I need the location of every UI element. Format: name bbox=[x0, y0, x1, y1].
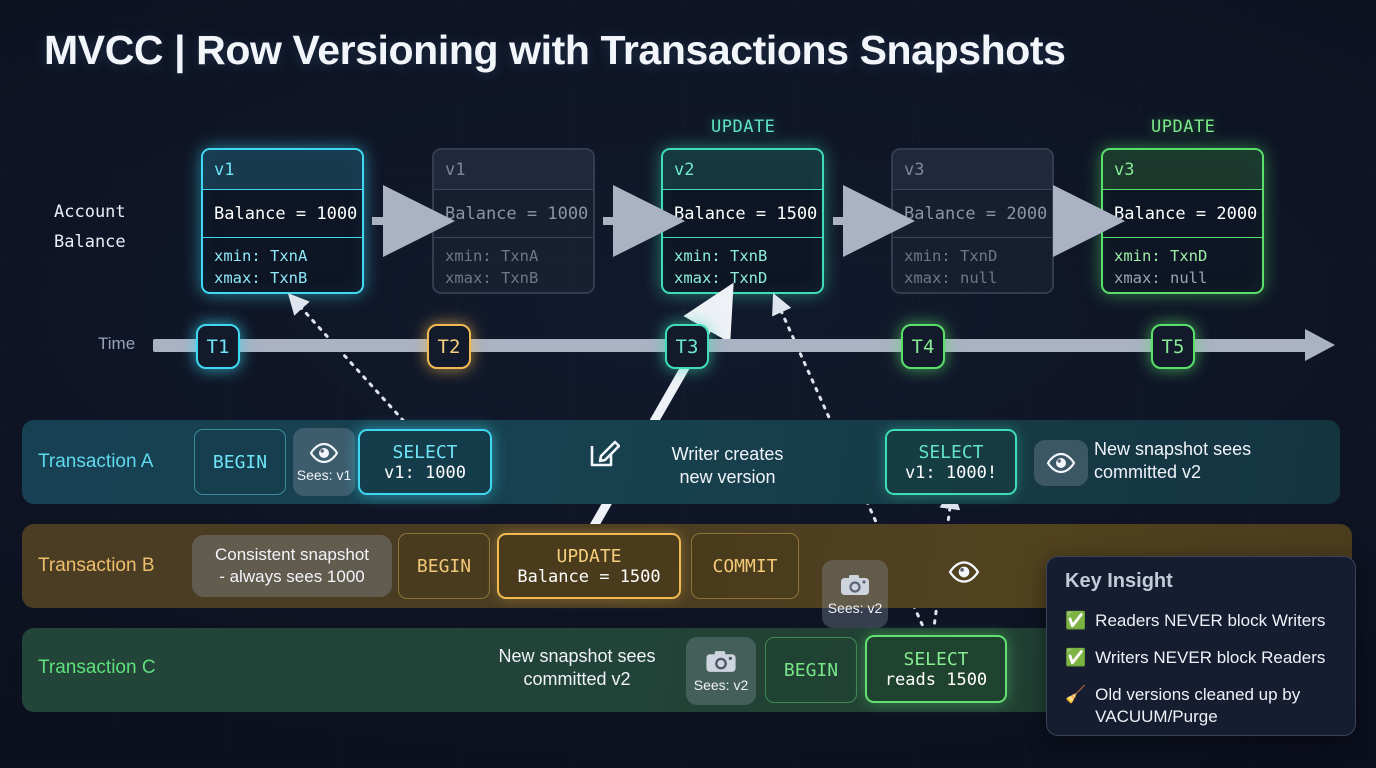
txc-sees-badge: Sees: v2 bbox=[686, 637, 756, 705]
txa-snapshot-icon-badge bbox=[1034, 440, 1088, 486]
camera-icon bbox=[839, 573, 871, 597]
txa-select1-line1: SELECT bbox=[392, 442, 457, 463]
txa-select1-line2: v1: 1000 bbox=[384, 463, 466, 483]
version-box-5-xmin: xmin: TxnD bbox=[1114, 245, 1262, 267]
check-mark-icon: ✅ bbox=[1065, 647, 1086, 669]
txb-commit-label: COMMIT bbox=[712, 556, 777, 577]
version-box-3-balance: Balance = 1500 bbox=[663, 190, 822, 238]
dotted-arrow-selectA-to-v1 bbox=[296, 302, 410, 428]
version-box-3-meta: xmin: TxnB xmax: TxnD bbox=[663, 238, 822, 289]
key-insight-heading: Key Insight bbox=[1065, 570, 1173, 593]
key-insight-item-3-text: Old versions cleaned up by VACUUM/Purge bbox=[1095, 684, 1337, 728]
txa-begin-label: BEGIN bbox=[213, 452, 267, 473]
version-box-3[interactable]: v2 Balance = 1500 xmin: TxnB xmax: TxnD bbox=[661, 148, 824, 294]
account-balance-line1: Account bbox=[54, 197, 194, 227]
camera-icon bbox=[704, 649, 738, 674]
version-box-2-meta: xmin: TxnA xmax: TxnB bbox=[434, 238, 593, 289]
timeline-node-t3[interactable]: T3 bbox=[665, 324, 709, 369]
version-box-3-name: v2 bbox=[663, 150, 822, 190]
txa-select2-line1: SELECT bbox=[918, 442, 983, 463]
timeline-track bbox=[153, 339, 1313, 352]
txc-begin-box[interactable]: BEGIN bbox=[765, 637, 857, 703]
version-box-1[interactable]: v1 Balance = 1000 xmin: TxnA xmax: TxnB bbox=[201, 148, 364, 294]
txc-select-line2: reads 1500 bbox=[885, 670, 987, 690]
txb-begin-box[interactable]: BEGIN bbox=[398, 533, 490, 599]
timeline-arrowhead-icon bbox=[1305, 329, 1335, 361]
key-insight-item-2: ✅ Writers NEVER block Readers bbox=[1065, 647, 1325, 669]
account-balance-label: Account Balance bbox=[54, 197, 194, 257]
version-box-4-name: v3 bbox=[893, 150, 1052, 190]
txb-update-line2: Balance = 1500 bbox=[517, 567, 660, 587]
txc-snapshot-note-line1: New snapshot sees bbox=[487, 645, 667, 668]
txc-sees-badge-text: Sees: v2 bbox=[694, 677, 748, 693]
txb-commit-box[interactable]: COMMIT bbox=[691, 533, 799, 599]
txc-select-line1: SELECT bbox=[903, 649, 968, 670]
version-box-3-xmax: xmax: TxnD bbox=[674, 267, 822, 289]
txa-snapshot-note: New snapshot sees committed v2 bbox=[1094, 438, 1294, 484]
version-box-1-xmin: xmin: TxnA bbox=[214, 245, 362, 267]
version-box-4-balance: Balance = 2000 bbox=[893, 190, 1052, 238]
txc-snapshot-note-line2: committed v2 bbox=[487, 668, 667, 691]
txa-writer-note-line1: Writer creates bbox=[640, 443, 815, 466]
txb-tooltip-line1: Consistent snapshot bbox=[215, 544, 369, 566]
version-box-2-xmin: xmin: TxnA bbox=[445, 245, 593, 267]
transaction-b-label: Transaction B bbox=[38, 555, 155, 577]
eye-icon bbox=[948, 560, 980, 584]
version-box-1-balance: Balance = 1000 bbox=[203, 190, 362, 238]
txa-snapshot-note-line1: New snapshot sees bbox=[1094, 438, 1294, 461]
check-mark-icon: ✅ bbox=[1065, 610, 1086, 632]
txa-snapshot-note-line2: committed v2 bbox=[1094, 461, 1294, 484]
version-box-3-xmin: xmin: TxnB bbox=[674, 245, 822, 267]
version-box-2[interactable]: v1 Balance = 1000 xmin: TxnA xmax: TxnB bbox=[432, 148, 595, 294]
txb-consistent-snapshot-tooltip: Consistent snapshot - always sees 1000 bbox=[192, 535, 392, 597]
version-box-5-xmax: xmax: null bbox=[1114, 267, 1262, 289]
txa-select1-box[interactable]: SELECT v1: 1000 bbox=[358, 429, 492, 495]
transaction-c-label: Transaction C bbox=[38, 657, 156, 679]
txb-update-line1: UPDATE bbox=[556, 546, 621, 567]
version-box-5-name: v3 bbox=[1103, 150, 1262, 190]
pencil-square-icon bbox=[588, 437, 620, 469]
txa-sees-badge: Sees: v1 bbox=[293, 428, 355, 496]
page-title: MVCC | Row Versioning with Transactions … bbox=[44, 27, 1066, 74]
version-box-4[interactable]: v3 Balance = 2000 xmin: TxnD xmax: null bbox=[891, 148, 1054, 294]
account-balance-line2: Balance bbox=[54, 227, 194, 257]
version-box-4-xmin: xmin: TxnD bbox=[904, 245, 1052, 267]
txb-update-box[interactable]: UPDATE Balance = 1500 bbox=[497, 533, 681, 599]
version-box-2-balance: Balance = 1000 bbox=[434, 190, 593, 238]
version-box-1-xmax: xmax: TxnB bbox=[214, 267, 362, 289]
txa-writer-note: Writer creates new version bbox=[640, 443, 815, 489]
timeline-node-t5[interactable]: T5 bbox=[1151, 324, 1195, 369]
key-insight-item-2-text: Writers NEVER block Readers bbox=[1095, 647, 1325, 669]
version-box-4-xmax: xmax: null bbox=[904, 267, 1052, 289]
txa-select2-box[interactable]: SELECT v1: 1000! bbox=[885, 429, 1017, 495]
broom-icon: 🧹 bbox=[1065, 684, 1086, 728]
eye-icon bbox=[309, 442, 339, 464]
version-box-5-meta: xmin: TxnD xmax: null bbox=[1103, 238, 1262, 289]
txb-tooltip-line2: - always sees 1000 bbox=[215, 566, 369, 588]
version-box-5-balance: Balance = 2000 bbox=[1103, 190, 1262, 238]
key-insight-panel: Key Insight ✅ Readers NEVER block Writer… bbox=[1046, 556, 1356, 736]
txa-sees-badge-text: Sees: v1 bbox=[297, 467, 351, 483]
update-label-v2: UPDATE bbox=[711, 117, 775, 137]
key-insight-item-3: 🧹 Old versions cleaned up by VACUUM/Purg… bbox=[1065, 684, 1337, 728]
txa-select2-line2: v1: 1000! bbox=[905, 463, 997, 483]
version-box-2-name: v1 bbox=[434, 150, 593, 190]
txa-begin-box[interactable]: BEGIN bbox=[194, 429, 286, 495]
txc-begin-label: BEGIN bbox=[784, 660, 838, 681]
version-box-1-name: v1 bbox=[203, 150, 362, 190]
key-insight-item-1: ✅ Readers NEVER block Writers bbox=[1065, 610, 1325, 632]
version-box-4-meta: xmin: TxnD xmax: null bbox=[893, 238, 1052, 289]
txb-sees-badge-text: Sees: v2 bbox=[828, 600, 882, 616]
version-box-2-xmax: xmax: TxnB bbox=[445, 267, 593, 289]
version-box-1-meta: xmin: TxnA xmax: TxnB bbox=[203, 238, 362, 289]
eye-icon bbox=[1046, 452, 1076, 474]
update-label-v3: UPDATE bbox=[1151, 117, 1215, 137]
time-label: Time bbox=[98, 334, 135, 354]
version-box-5[interactable]: v3 Balance = 2000 xmin: TxnD xmax: null bbox=[1101, 148, 1264, 294]
timeline-node-t1[interactable]: T1 bbox=[196, 324, 240, 369]
txb-begin-label: BEGIN bbox=[417, 556, 471, 577]
timeline-node-t4[interactable]: T4 bbox=[901, 324, 945, 369]
timeline-node-t2[interactable]: T2 bbox=[427, 324, 471, 369]
key-insight-item-1-text: Readers NEVER block Writers bbox=[1095, 610, 1325, 632]
transaction-a-label: Transaction A bbox=[38, 451, 153, 473]
txa-writer-note-line2: new version bbox=[640, 466, 815, 489]
txc-select-box[interactable]: SELECT reads 1500 bbox=[865, 635, 1007, 703]
txc-snapshot-note: New snapshot sees committed v2 bbox=[487, 645, 667, 691]
txb-sees-badge: Sees: v2 bbox=[822, 560, 888, 628]
